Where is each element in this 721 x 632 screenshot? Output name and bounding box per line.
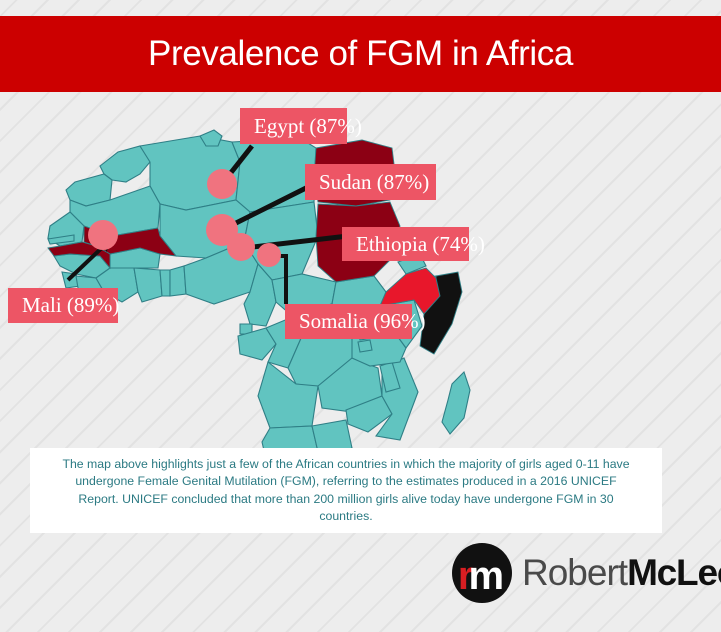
country-burundi (358, 340, 372, 352)
marker-dot-mali (88, 220, 118, 250)
caption-text: The map above highlights just a few of t… (30, 456, 662, 526)
marker-dot-egypt (207, 169, 237, 199)
country-madagascar (442, 372, 470, 434)
country-libya (232, 138, 316, 212)
callout-label-egypt[interactable]: Egypt (87%) (240, 108, 347, 144)
callout-label-sudan[interactable]: Sudan (87%) (305, 164, 436, 200)
infographic-canvas: Prevalence of FGM in Africa (0, 0, 721, 632)
marker-dot-somalia (257, 243, 281, 267)
caption-box: The map above highlights just a few of t… (30, 448, 662, 533)
marker-dot-ethiopia (227, 233, 255, 261)
country-benin (170, 266, 186, 296)
page-title: Prevalence of FGM in Africa (148, 34, 573, 74)
callout-label-mali[interactable]: Mali (89%) (8, 288, 118, 323)
logo-mark-icon: r m (452, 543, 512, 603)
africa-map-svg (0, 96, 721, 456)
country-togo (160, 270, 170, 296)
logo-wordmark-first: Robert (522, 552, 627, 594)
header-bar: Prevalence of FGM in Africa (0, 16, 721, 92)
callout-label-somalia[interactable]: Somalia (96%) (285, 304, 412, 339)
logo-mark-letter-m: m (469, 556, 504, 596)
africa-map (0, 96, 721, 456)
country-ghana (134, 268, 162, 302)
brand-logo: r m Robert McLeod (452, 542, 721, 604)
logo-wordmark: Robert McLeod (522, 552, 721, 594)
callout-label-ethiopia[interactable]: Ethiopia (74%) (342, 227, 469, 261)
logo-wordmark-last: McLeod (627, 552, 721, 594)
